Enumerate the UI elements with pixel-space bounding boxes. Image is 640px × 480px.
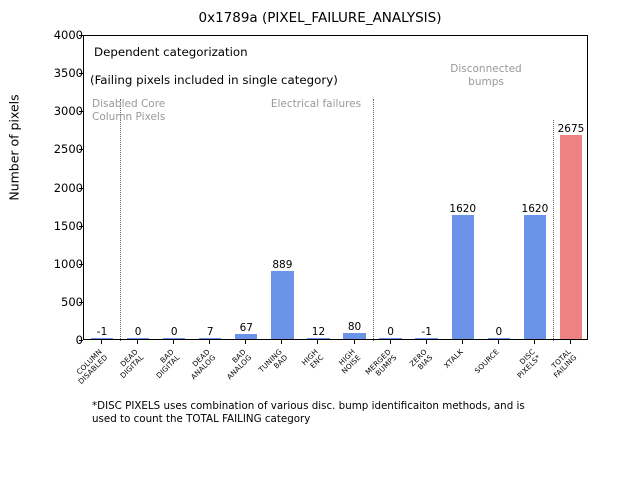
bar[interactable]	[199, 338, 221, 339]
bar[interactable]	[163, 338, 185, 339]
bar[interactable]	[452, 215, 474, 339]
x-tick-mark	[462, 340, 463, 344]
bar-value-label: 67	[240, 322, 253, 334]
y-tick-label: 2000	[13, 181, 83, 195]
x-tick-mark	[101, 340, 102, 344]
chart-annotation: Dependent categorization	[94, 46, 248, 59]
bar-value-label: 0	[171, 326, 178, 338]
x-tick-mark	[173, 340, 174, 344]
bar[interactable]	[379, 338, 401, 339]
section-divider-line	[120, 99, 121, 341]
chart-annotation: Electrical failures	[271, 98, 361, 111]
x-tick-mark	[498, 340, 499, 344]
y-tick-label: 1000	[13, 257, 83, 271]
chart-footnote: *DISC PIXELS uses combination of various…	[92, 400, 612, 426]
x-tick-mark	[354, 340, 355, 344]
section-divider-line	[373, 99, 374, 341]
bar-value-label: 1620	[449, 203, 476, 215]
y-tick-label: 0	[13, 333, 83, 347]
y-tick-label: 1500	[13, 219, 83, 233]
bar[interactable]	[127, 338, 149, 339]
plot-area: -10076788912800-11620016202675Dependent …	[83, 35, 588, 340]
bar-value-label: 889	[272, 259, 292, 271]
chart-title: 0x1789a (PIXEL_FAILURE_ANALYSIS)	[0, 10, 640, 26]
y-axis-ticks: 05001000150020002500300035004000	[0, 35, 83, 340]
bar-value-label: 1620	[522, 203, 549, 215]
plot-inner: -10076788912800-11620016202675Dependent …	[84, 36, 587, 339]
bar-value-label: 0	[135, 326, 142, 338]
x-tick-mark	[317, 340, 318, 344]
x-tick-mark	[245, 340, 246, 344]
x-tick-mark	[426, 340, 427, 344]
bar[interactable]	[343, 333, 365, 339]
bar[interactable]	[524, 215, 546, 339]
bar-value-label: 12	[312, 326, 325, 338]
bar[interactable]	[235, 334, 257, 339]
y-tick-label: 4000	[13, 28, 83, 42]
x-axis-tick-labels: COLUMN DISABLEDDEAD DIGITALBAD DIGITALDE…	[83, 345, 588, 400]
x-tick-mark	[209, 340, 210, 344]
x-tick-mark	[534, 340, 535, 344]
x-tick-mark	[390, 340, 391, 344]
bar-value-label: 7	[207, 326, 214, 338]
bar-value-label: 2675	[558, 123, 585, 135]
bar[interactable]	[91, 338, 113, 339]
x-tick-mark	[570, 340, 571, 344]
y-tick-label: 2500	[13, 142, 83, 156]
bar[interactable]	[415, 338, 437, 339]
bar[interactable]	[271, 271, 293, 339]
y-tick-label: 3000	[13, 104, 83, 118]
bar-value-label: -1	[97, 326, 107, 338]
x-tick-mark	[137, 340, 138, 344]
x-tick-mark	[281, 340, 282, 344]
bar-value-label: 0	[495, 326, 502, 338]
y-tick-label: 500	[13, 295, 83, 309]
bar-value-label: -1	[421, 326, 431, 338]
y-tick-label: 3500	[13, 66, 83, 80]
chart-annotation: (Failing pixels included in single categ…	[90, 74, 338, 87]
bar-value-label: 0	[387, 326, 394, 338]
bar[interactable]	[307, 338, 329, 339]
bar[interactable]	[560, 135, 582, 339]
chart-figure: 0x1789a (PIXEL_FAILURE_ANALYSIS) Number …	[0, 0, 640, 480]
chart-annotation: Disconnected bumps	[450, 63, 521, 88]
bar-value-label: 80	[348, 321, 361, 333]
chart-annotation: Disabled Core Column Pixels	[92, 98, 165, 123]
section-divider-line	[553, 120, 554, 341]
bar[interactable]	[488, 338, 510, 339]
